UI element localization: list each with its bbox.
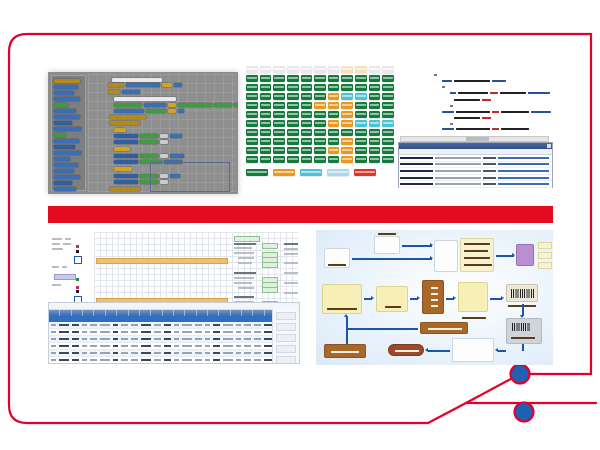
table-cell [59,324,69,326]
table-cell [113,352,118,354]
status-cell[interactable] [328,93,340,100]
arrowhead [512,253,515,257]
status-cell[interactable] [314,75,326,82]
status-cell[interactable] [314,120,326,127]
table-cell [223,359,233,361]
table-cell [236,345,241,347]
workflow-node-unload[interactable] [376,286,408,312]
table-cell [244,324,251,326]
table-cell [236,359,241,361]
table-cell [195,345,202,347]
status-cell[interactable] [301,111,313,118]
status-cell[interactable] [382,93,394,100]
table-cell [113,324,118,326]
table-cell [90,352,97,354]
status-cell[interactable] [369,102,381,109]
table-cell [195,338,202,340]
table-cell [51,359,56,361]
status-cell[interactable] [314,102,326,109]
status-cell[interactable] [314,147,326,154]
connector-line [466,374,520,403]
status-cell[interactable] [287,84,299,91]
status-cell[interactable] [273,66,285,73]
table-cell [51,352,56,354]
log-cell [483,157,497,159]
status-cell[interactable] [273,111,285,118]
status-cell[interactable] [314,84,326,91]
table-row[interactable] [49,322,299,329]
table-cell [90,338,97,340]
status-cell[interactable] [301,156,313,163]
blocks-canvas[interactable] [88,74,236,192]
table-cell [244,359,251,361]
table-row[interactable] [49,329,299,336]
status-cell[interactable] [301,129,313,136]
status-cell[interactable] [369,147,381,154]
status-cell[interactable] [301,138,313,145]
status-cell[interactable] [260,120,272,127]
accent-circle-lower [515,403,534,422]
log-cell [498,163,549,165]
status-cell[interactable] [246,111,258,118]
table-cell [131,359,138,361]
status-cell[interactable] [382,75,394,82]
table-cell [121,324,128,326]
status-cell[interactable] [328,66,340,73]
status-cell[interactable] [328,111,340,118]
status-cell[interactable] [273,84,285,91]
log-row[interactable] [399,175,552,182]
table-cell [72,345,79,347]
status-cell[interactable] [328,129,340,136]
table-cell [141,338,151,340]
table-cell [121,345,128,347]
status-cell[interactable] [301,120,313,127]
status-cell[interactable] [369,66,381,73]
status-cell[interactable] [287,66,299,73]
log-cell [483,163,497,165]
status-cell[interactable] [341,75,353,82]
table-cell [90,345,97,347]
table-cell [213,331,220,333]
status-cell[interactable] [341,129,353,136]
status-cell[interactable] [382,120,394,127]
table-cell [236,331,241,333]
status-cell[interactable] [382,84,394,91]
table-cell [195,359,202,361]
status-cell[interactable] [301,147,313,154]
status-cell[interactable] [260,138,272,145]
log-cell [435,163,480,165]
status-cell[interactable] [355,102,367,109]
status-cell[interactable] [287,75,299,82]
section-divider [48,206,553,223]
status-cell[interactable] [273,102,285,109]
table-cell [182,324,192,326]
legend-chip [273,169,295,176]
status-cell-grid[interactable] [246,66,394,163]
status-cell[interactable] [273,138,285,145]
table-cell [182,359,192,361]
status-cell[interactable] [355,93,367,100]
status-cell[interactable] [314,93,326,100]
table-cell [244,352,251,354]
status-cell[interactable] [341,66,353,73]
status-cell[interactable] [246,138,258,145]
status-cell[interactable] [355,156,367,163]
table-cell [223,338,233,340]
table-cell [141,345,151,347]
status-cell[interactable] [382,129,394,136]
status-cell[interactable] [260,156,272,163]
side-button[interactable] [276,356,296,364]
table-cell [131,352,138,354]
status-cell[interactable] [246,147,258,154]
status-cell[interactable] [314,138,326,145]
log-row[interactable] [399,168,552,175]
table-cell [182,331,192,333]
table-cell [121,331,128,333]
log-cell [400,183,433,185]
status-grid-panel[interactable] [246,66,394,186]
table-cell [205,345,210,347]
status-cell[interactable] [369,93,381,100]
status-cell[interactable] [287,129,299,136]
status-cell[interactable] [341,84,353,91]
status-cell[interactable] [273,93,285,100]
table-cell [182,338,192,340]
table-cell [244,338,251,340]
log-cell [400,170,433,172]
table-cell [121,338,128,340]
status-cell[interactable] [273,120,285,127]
table-cell [174,331,179,333]
status-cell[interactable] [314,111,326,118]
table-row[interactable] [49,350,299,357]
status-cell[interactable] [301,75,313,82]
status-cell[interactable] [355,66,367,73]
table-cell [59,352,69,354]
log-cell [435,157,480,159]
status-cell[interactable] [260,147,272,154]
table-cell [174,352,179,354]
table-cell [164,338,171,340]
table-cell [164,345,171,347]
log-row[interactable] [399,181,552,188]
status-cell[interactable] [260,84,272,91]
arrowhead [453,296,456,300]
status-cell[interactable] [314,156,326,163]
status-cell[interactable] [328,138,340,145]
table-cell [121,359,128,361]
table-cell [254,352,261,354]
table-cell [131,338,138,340]
data-grid-toolbar[interactable] [49,303,299,310]
table-cell [59,345,69,347]
log-rows[interactable] [399,155,552,188]
workflow-node-reject-store[interactable] [324,344,366,358]
status-cell[interactable] [341,102,353,109]
status-cell[interactable] [328,156,340,163]
log-console-titlebar[interactable] [399,143,552,149]
arrow-putaway-to-done [428,350,450,352]
log-cell [435,183,480,185]
workflow-node-receiving-docs[interactable] [460,238,494,272]
status-cell[interactable] [382,102,394,109]
table-cell [100,352,110,354]
log-cell [435,177,480,179]
status-cell[interactable] [369,138,381,145]
table-cell [51,324,56,326]
workflow-node-label-print[interactable] [516,244,534,266]
code-editor[interactable] [396,70,553,132]
arrowhead [430,256,433,260]
table-cell [121,352,128,354]
table-cell [82,359,87,361]
table-cell [90,331,97,333]
table-cell [72,352,79,354]
blocks-editor-panel[interactable] [48,72,238,194]
status-cell[interactable] [382,156,394,163]
table-cell [195,352,202,354]
status-cell[interactable] [314,129,326,136]
arrowhead [430,243,433,247]
table-cell [213,324,220,326]
legend-chip [354,169,376,176]
status-cell[interactable] [287,147,299,154]
table-cell [82,338,87,340]
log-cell [400,163,433,165]
workflow-node-transport[interactable] [322,284,362,314]
data-grid-side-panel[interactable] [272,309,299,363]
table-cell [164,359,171,361]
legend-chip [246,169,268,176]
status-grid-legend [246,169,394,176]
log-cell [498,157,549,159]
status-cell[interactable] [355,147,367,154]
status-cell[interactable] [260,129,272,136]
data-grid-panel[interactable] [48,302,300,364]
log-cell [483,170,497,172]
status-cell[interactable] [355,129,367,136]
status-cell[interactable] [246,84,258,91]
status-cell[interactable] [369,75,381,82]
table-cell [213,352,220,354]
workflow-diagram-panel[interactable] [316,230,553,365]
status-cell[interactable] [301,66,313,73]
table-cell [213,345,220,347]
status-cell[interactable] [355,138,367,145]
arrow-reject-to-return [346,328,418,330]
log-console[interactable] [398,142,553,188]
status-cell[interactable] [328,147,340,154]
data-grid-header-row[interactable] [49,310,299,316]
table-cell [205,352,210,354]
table-cell [223,352,233,354]
status-cell[interactable] [369,84,381,91]
slide-root [0,0,600,450]
data-grid-body[interactable] [49,322,299,364]
status-cell[interactable] [369,111,381,118]
table-row[interactable] [49,336,299,343]
table-cell [59,338,69,340]
accent-circle-upper [511,365,530,384]
table-cell [131,324,138,326]
status-cell[interactable] [260,66,272,73]
status-cell[interactable] [369,156,381,163]
log-cell [400,157,433,159]
workflow-node-inspection-area[interactable] [422,280,444,314]
side-button[interactable] [276,323,296,331]
table-cell [59,331,69,333]
table-cell [72,324,79,326]
status-cell[interactable] [246,66,258,73]
status-cell[interactable] [260,75,272,82]
table-cell [254,338,261,340]
status-cell[interactable] [355,120,367,127]
legend-chip [300,169,322,176]
table-cell [100,359,110,361]
table-cell [154,359,161,361]
content-area [48,62,553,362]
side-button[interactable] [276,345,296,353]
log-cell [498,183,549,185]
status-cell[interactable] [382,111,394,118]
blocks-palette[interactable] [51,75,86,191]
table-cell [100,345,110,347]
workflow-node-barcode-scan[interactable] [506,318,542,344]
table-cell [113,359,118,361]
table-cell [223,331,233,333]
status-cell[interactable] [369,120,381,127]
table-cell [59,359,69,361]
status-cell[interactable] [273,75,285,82]
status-cell[interactable] [328,75,340,82]
table-cell [236,352,241,354]
table-cell [236,324,241,326]
table-cell [254,345,261,347]
status-cell[interactable] [273,147,285,154]
arrow-scan-down [522,344,524,351]
status-cell[interactable] [301,102,313,109]
arrowhead [371,296,374,300]
table-cell [131,331,138,333]
status-cell[interactable] [341,111,353,118]
arrow-order-to-system [402,245,432,247]
log-row[interactable] [399,162,552,169]
log-close-icon[interactable] [547,144,551,148]
status-cell[interactable] [355,84,367,91]
table-cell [72,359,79,361]
status-cell[interactable] [287,93,299,100]
status-cell[interactable] [355,75,367,82]
table-cell [205,338,210,340]
table-cell [205,324,210,326]
workflow-node-quality-check[interactable] [458,282,488,312]
workflow-node-order-system[interactable] [374,236,400,254]
status-cell[interactable] [246,102,258,109]
status-cell[interactable] [273,156,285,163]
table-cell [164,331,171,333]
frame-bottom-border [9,403,596,423]
status-cell[interactable] [246,129,258,136]
status-cell[interactable] [314,66,326,73]
status-cell[interactable] [369,129,381,136]
status-cell[interactable] [328,84,340,91]
log-cell [435,170,480,172]
code-console-panel[interactable] [396,70,553,188]
arrowhead [344,314,348,317]
status-cell[interactable] [287,120,299,127]
status-cell[interactable] [341,138,353,145]
workflow-node-supplier[interactable] [324,248,350,268]
status-cell[interactable] [382,147,394,154]
status-cell[interactable] [246,156,258,163]
status-cell[interactable] [246,93,258,100]
status-cell[interactable] [301,93,313,100]
status-cell[interactable] [260,111,272,118]
status-cell[interactable] [341,147,353,154]
status-cell[interactable] [273,129,285,136]
table-cell [213,359,220,361]
table-cell [131,345,138,347]
status-cell[interactable] [301,84,313,91]
table-cell [154,331,161,333]
status-cell[interactable] [260,93,272,100]
table-row[interactable] [49,343,299,350]
status-cell[interactable] [341,120,353,127]
status-cell[interactable] [287,138,299,145]
status-cell[interactable] [246,120,258,127]
workflow-node-reject-area[interactable] [420,322,468,334]
status-cell[interactable] [328,102,340,109]
table-cell [244,331,251,333]
status-cell[interactable] [287,102,299,109]
arrowhead [425,348,428,352]
side-button[interactable] [276,334,296,342]
workflow-node-warehouse-system[interactable] [434,240,458,272]
table-cell [205,359,210,361]
table-cell [72,331,79,333]
status-cell[interactable] [246,75,258,82]
workflow-node-barcode-print[interactable] [506,284,538,302]
side-button[interactable] [276,312,296,320]
table-cell [51,331,56,333]
table-cell [113,331,118,333]
table-row[interactable] [49,357,299,364]
status-cell[interactable] [328,120,340,127]
table-cell [174,338,179,340]
status-cell[interactable] [382,138,394,145]
workflow-node-inbound-done[interactable] [388,344,424,356]
status-cell[interactable] [355,111,367,118]
log-cell [483,177,497,179]
status-cell[interactable] [287,111,299,118]
workflow-node-putaway[interactable] [452,338,494,362]
table-cell [154,352,161,354]
status-cell[interactable] [287,156,299,163]
status-cell[interactable] [382,66,394,73]
arrowhead [501,296,504,300]
status-cell[interactable] [341,93,353,100]
table-cell [90,359,97,361]
status-cell[interactable] [341,156,353,163]
table-cell [51,345,56,347]
log-row[interactable] [399,155,552,162]
arrowhead [417,296,420,300]
table-cell [100,324,110,326]
status-cell[interactable] [260,102,272,109]
